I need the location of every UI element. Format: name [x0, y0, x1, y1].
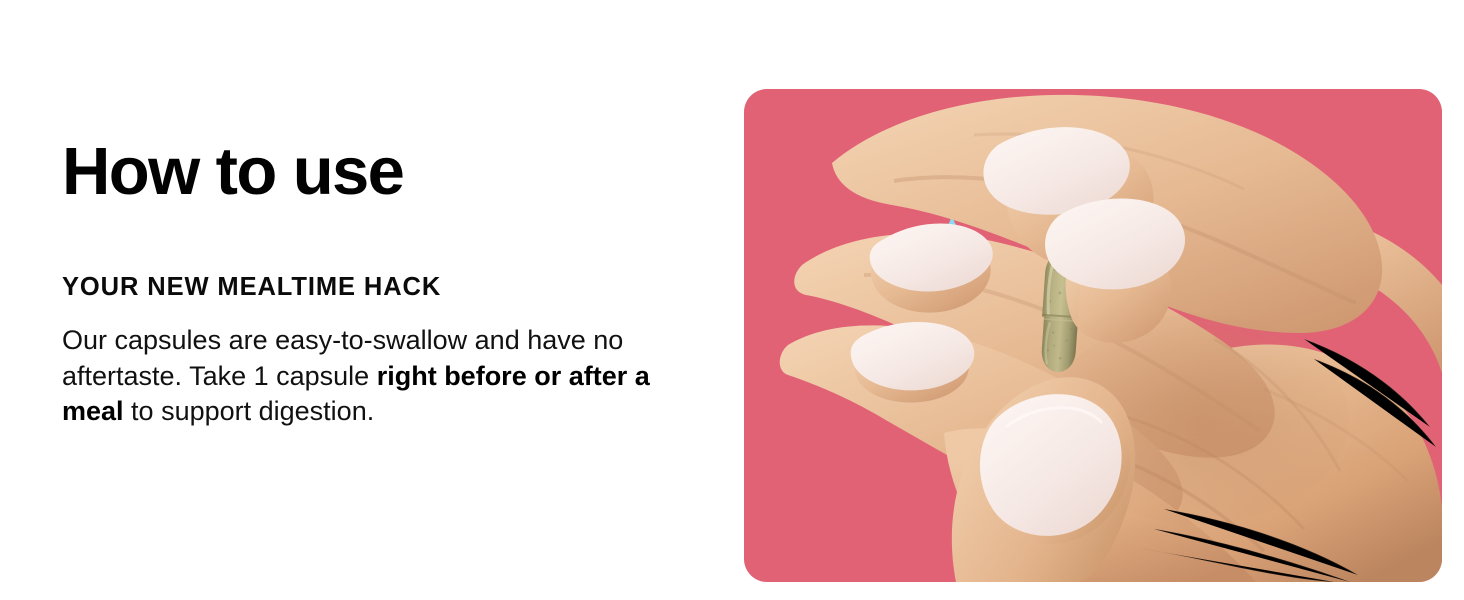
body-text-part-2: to support digestion. — [124, 396, 375, 426]
body-paragraph: Our capsules are easy-to-swallow and hav… — [62, 302, 677, 430]
hand-illustration — [744, 89, 1442, 582]
page-title: How to use — [62, 138, 702, 205]
how-to-use-banner: How to use YOUR NEW MEALTIME HACK Our ca… — [0, 0, 1464, 600]
section-eyebrow: YOUR NEW MEALTIME HACK — [62, 205, 702, 302]
copy-block: How to use YOUR NEW MEALTIME HACK Our ca… — [62, 138, 702, 430]
product-image-panel — [744, 89, 1442, 582]
